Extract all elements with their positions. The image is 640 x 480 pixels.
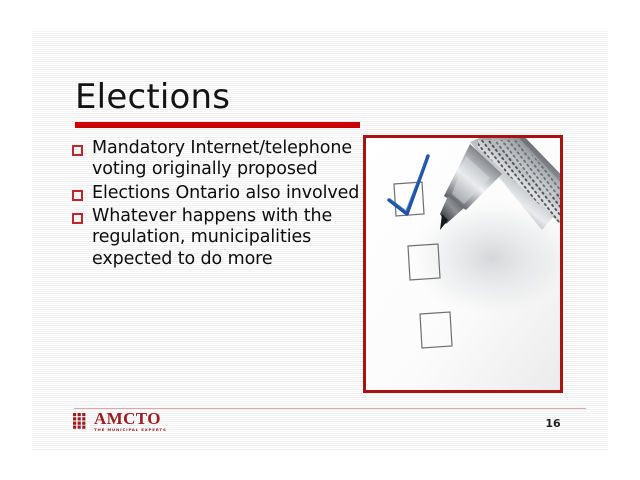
amcto-tagline: THE MUNICIPAL EXPERTS: [94, 428, 167, 432]
bullet-list: Mandatory Internet/telephone voting orig…: [72, 138, 372, 272]
title-divider-rule: [75, 122, 360, 128]
list-item-text: Mandatory Internet/telephone voting orig…: [92, 138, 372, 181]
amcto-logo-text: AMCTO THE MUNICIPAL EXPERTS: [94, 410, 167, 432]
list-item: Whatever happens with the regulation, mu…: [72, 206, 372, 270]
square-bullet-icon: [72, 213, 83, 224]
ballot-photo: [366, 138, 560, 390]
square-bullet-icon: [72, 145, 83, 156]
square-bullet-icon: [72, 190, 83, 201]
slide-number: 16: [538, 417, 568, 430]
list-item: Elections Ontario also involved: [72, 183, 372, 204]
amcto-wordmark: AMCTO: [94, 410, 167, 427]
list-item-text: Elections Ontario also involved: [92, 183, 372, 204]
ballot-image-frame: [363, 135, 563, 393]
slide-canvas: Elections Mandatory Internet/telephone v…: [32, 30, 608, 450]
amcto-grid-icon: [73, 413, 90, 429]
list-item-text: Whatever happens with the regulation, mu…: [92, 206, 372, 270]
list-item: Mandatory Internet/telephone voting orig…: [72, 138, 372, 181]
page-title: Elections: [75, 80, 405, 116]
amcto-logo: AMCTO THE MUNICIPAL EXPERTS: [73, 410, 167, 432]
title-block: Elections: [75, 80, 405, 116]
